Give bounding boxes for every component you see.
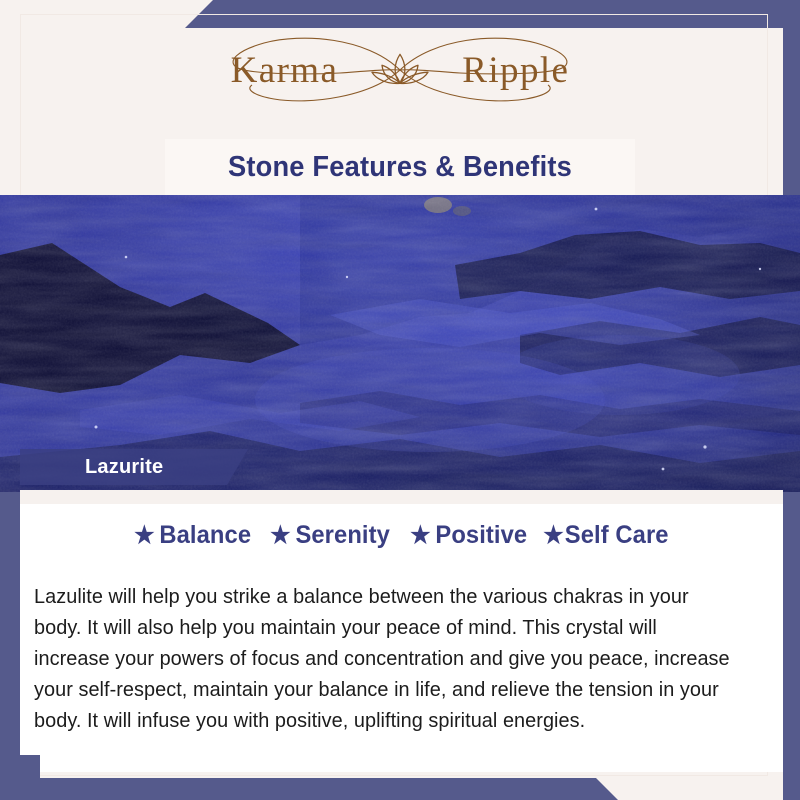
stone-name-bar: Lazurite [20,449,248,485]
left-edge-navy-strip [0,462,20,780]
top-right-navy-band [0,0,800,28]
stone-description: Lazulite will help you strike a balance … [34,581,734,736]
benefit-item-balance: ★ Balance [134,521,251,550]
benefit-label: Serenity [296,521,390,550]
brand-logo: Karma Ripple [0,30,800,110]
brand-name-left: Karma [231,49,339,92]
stone-info-poster: Karma Ripple Stone Features & Benefits [0,0,800,800]
benefit-label: Balance [160,521,252,550]
benefit-item-positive: ★ Positive [410,521,527,550]
stone-photo [0,195,800,492]
lotus-icon [369,49,431,94]
bottom-left-navy-tab [0,755,40,800]
benefit-label: Positive [435,521,527,550]
stone-name-label: Lazurite [85,456,163,479]
star-icon: ★ [410,524,431,548]
content-card: ★ Balance ★ Serenity ★ Positive ★ Self C… [20,490,783,772]
card-top-tint [20,490,783,504]
star-icon: ★ [134,524,155,548]
star-icon: ★ [271,524,292,548]
benefits-row: ★ Balance ★ Serenity ★ Positive ★ Self C… [20,521,783,550]
page-title: Stone Features & Benefits [228,151,572,184]
brand-name-right: Ripple [462,49,569,92]
star-icon: ★ [543,524,564,548]
benefit-label: Self Care [565,521,669,550]
benefit-item-serenity: ★ Serenity [271,521,391,550]
headline-banner: Stone Features & Benefits [165,139,635,195]
bottom-navy-band [0,778,800,800]
benefit-item-self-care: ★ Self Care [543,521,668,550]
